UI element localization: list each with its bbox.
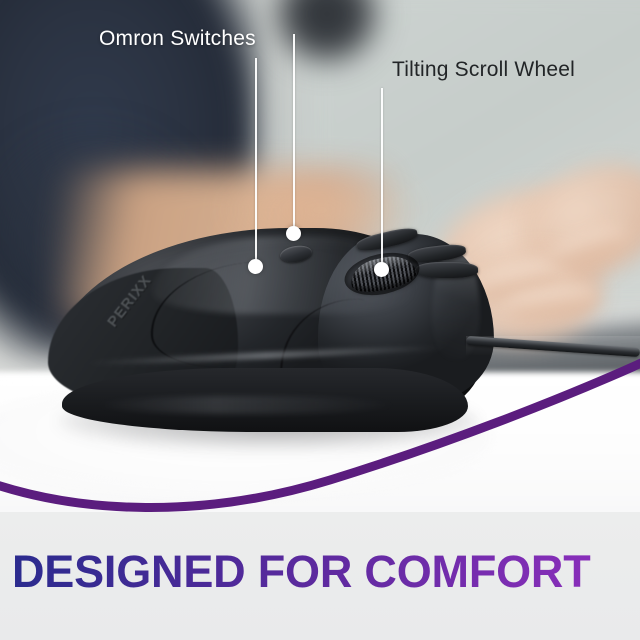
callout-dot-scroll-wheel bbox=[374, 262, 389, 277]
callout-dot-omron bbox=[248, 259, 263, 274]
callout-leader-line-omron bbox=[255, 58, 257, 266]
callout-label-tilting-scroll-wheel: Tilting Scroll Wheel bbox=[392, 58, 575, 82]
callout-layer: Omron Switches Tilting Scroll Wheel bbox=[0, 0, 640, 520]
callout-leader-line-scroll-wheel bbox=[381, 88, 383, 269]
product-banner: PERIXX Omron Switches Tilting Scroll Whe… bbox=[0, 0, 640, 640]
product-photo: PERIXX Omron Switches Tilting Scroll Whe… bbox=[0, 0, 640, 520]
headline-designed-for-comfort: DESIGNED FOR COMFORT bbox=[12, 546, 632, 598]
callout-dot-center bbox=[286, 226, 301, 241]
callout-leader-line-center bbox=[293, 34, 295, 233]
callout-label-omron-switches: Omron Switches bbox=[99, 27, 256, 51]
